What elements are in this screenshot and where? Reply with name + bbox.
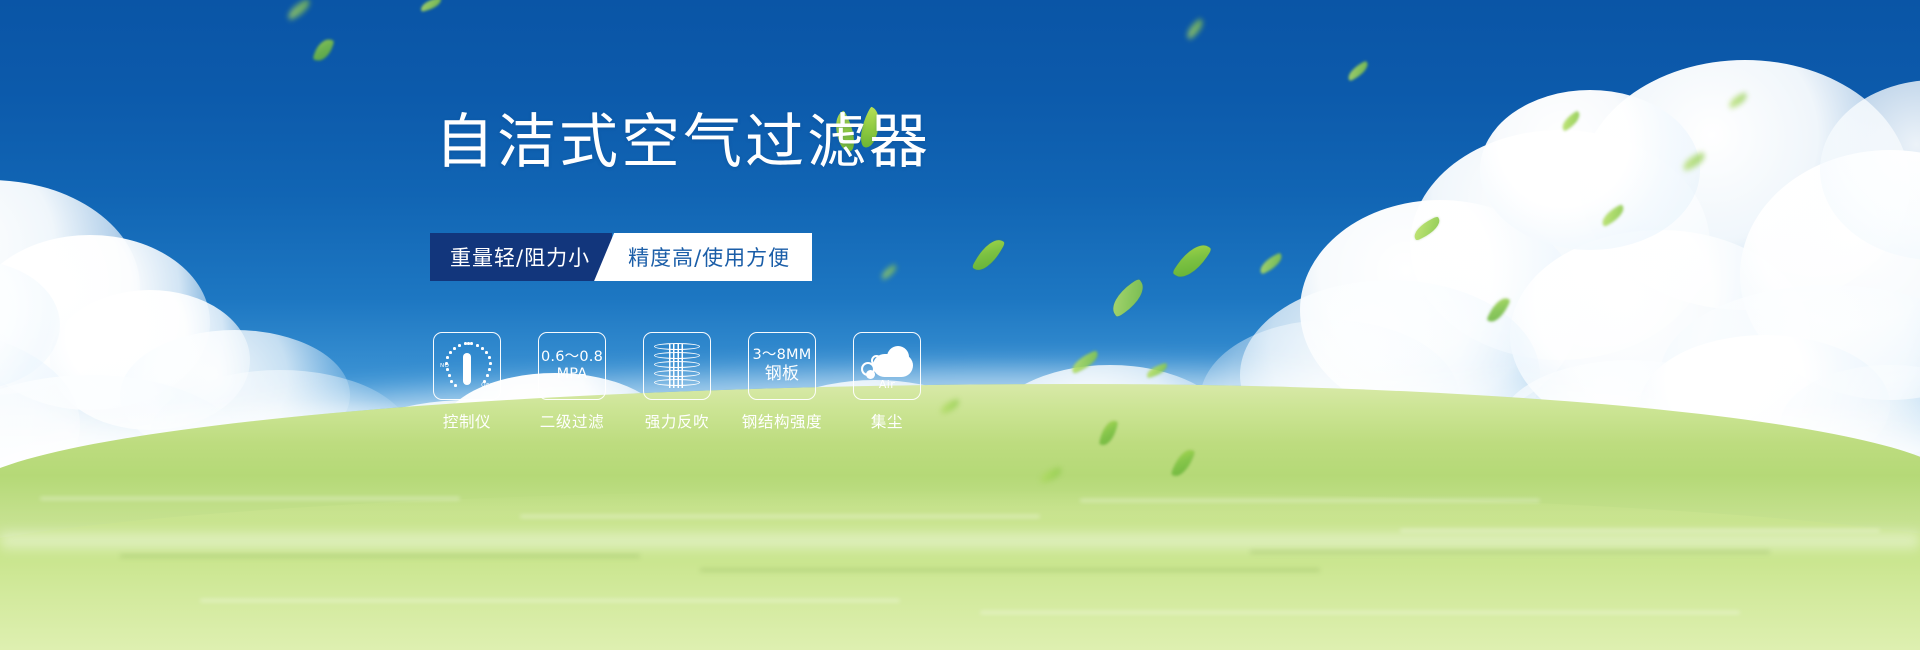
filter-coil-icon xyxy=(654,342,700,390)
gauge-icon: NO OFF xyxy=(441,340,493,392)
feature-icon-box xyxy=(643,332,711,400)
banner-content: 自洁式空气过滤器 重量轻/阻力小 精度高/使用方便 NO OFF xyxy=(0,0,1920,650)
feature-icon-box: NO OFF xyxy=(433,332,501,400)
feature-label: 强力反吹 xyxy=(645,410,709,432)
subtitle-tabs: 重量轻/阻力小 精度高/使用方便 xyxy=(430,233,812,281)
feature-item-steel-strength[interactable]: 3～8MM 钢板 钢结构强度 xyxy=(748,332,816,432)
feature-label: 钢结构强度 xyxy=(742,410,823,432)
feature-item-dust-collection[interactable]: Air 集尘 xyxy=(853,332,921,432)
feature-list: NO OFF xyxy=(433,332,921,432)
pressure-range-text: 0.6～0.8 xyxy=(541,349,603,366)
promo-banner: 自洁式空气过滤器 重量轻/阻力小 精度高/使用方便 NO OFF xyxy=(0,0,1920,650)
tab-high-precision-easy-use[interactable]: 精度高/使用方便 xyxy=(594,233,812,281)
feature-label: 集尘 xyxy=(871,410,903,432)
air-label: Air xyxy=(860,378,914,391)
feature-icon-box: 0.6～0.8 MPA xyxy=(538,332,606,400)
feature-icon-box: 3～8MM 钢板 xyxy=(748,332,816,400)
feature-item-strong-backflush[interactable]: 强力反吹 xyxy=(643,332,711,432)
pressure-unit-text: MPA xyxy=(557,366,588,383)
feature-icon-box: Air xyxy=(853,332,921,400)
tab-lightweight-low-resistance[interactable]: 重量轻/阻力小 xyxy=(430,233,612,281)
steel-thickness-text: 3～8MM xyxy=(753,347,812,364)
feature-item-controller[interactable]: NO OFF xyxy=(433,332,501,432)
gauge-off-label: OFF xyxy=(481,382,493,390)
air-cloud-icon: Air xyxy=(860,344,914,388)
feature-label: 控制仪 xyxy=(443,410,491,432)
feature-label: 二级过滤 xyxy=(540,410,604,432)
page-title: 自洁式空气过滤器 xyxy=(435,112,931,171)
feature-item-secondary-filtration[interactable]: 0.6～0.8 MPA 二级过滤 xyxy=(538,332,606,432)
steel-plate-text: 钢板 xyxy=(765,364,799,384)
